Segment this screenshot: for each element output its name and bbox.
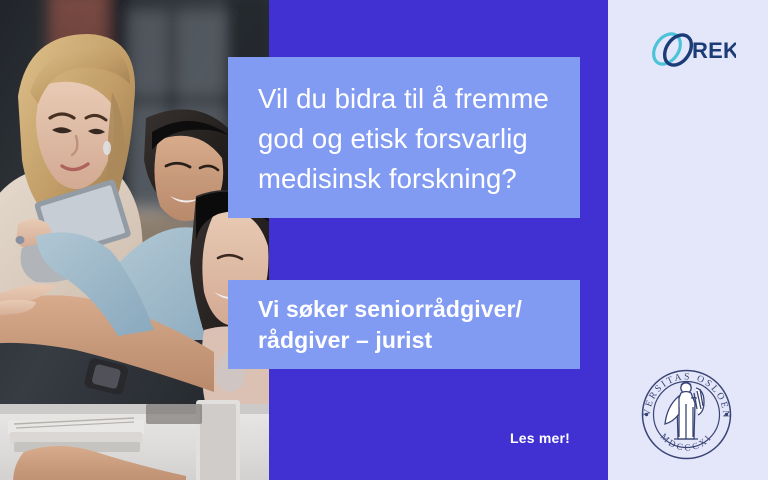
rek-logo: REK [648, 26, 736, 72]
headline-line-1: Vil du bidra til å fremme [258, 79, 580, 119]
job-title-line-1: Vi søker seniorrådgiver/ [258, 294, 580, 325]
job-title-box: Vi søker seniorrådgiver/ rådgiver – juri… [228, 280, 580, 369]
uio-seal: UNIVERSITAS OSLOENSIS MDCCCXI [634, 362, 739, 467]
interlocking-ellipses-icon [648, 29, 697, 70]
apollo-with-lyre-icon [665, 383, 704, 440]
rek-wordmark: REK [692, 38, 736, 63]
headline-line-2: god og etisk forsvarlig [258, 119, 580, 159]
headline-box: Vil du bidra til å fremme god og etisk f… [228, 57, 580, 218]
read-more-link[interactable]: Les mer! [504, 430, 576, 446]
job-title-line-2: rådgiver – jurist [258, 325, 580, 356]
headline-line-3: medisinsk forskning? [258, 159, 580, 199]
promo-banner: Vil du bidra til å fremme god og etisk f… [0, 0, 768, 480]
